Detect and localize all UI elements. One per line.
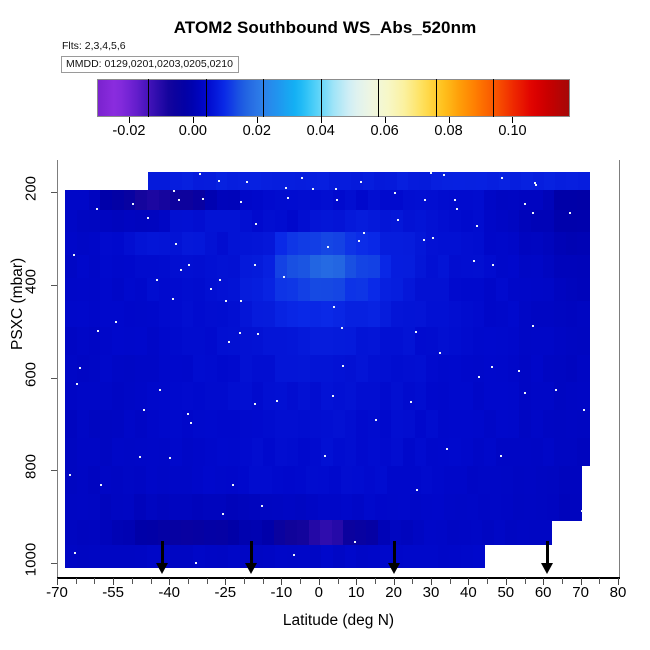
heatmap-cell <box>170 255 182 279</box>
x-axis-tick-label: -10 <box>271 584 293 601</box>
heatmap-cell <box>415 355 427 383</box>
heatmap-cell <box>157 494 169 521</box>
heatmap-cell <box>329 466 341 494</box>
heatmap-cell <box>170 301 182 327</box>
heatmap-cell <box>333 438 345 466</box>
heatmap-cell <box>217 382 229 410</box>
heatmap-cell <box>170 327 182 355</box>
heatmap-cell <box>473 545 485 569</box>
heatmap-cell <box>449 278 461 302</box>
sample-marker <box>293 554 295 556</box>
heatmap-cell <box>112 255 124 279</box>
heatmap-cell <box>147 232 159 256</box>
heatmap-cell <box>554 410 566 438</box>
heatmap-cell <box>157 466 169 494</box>
sample-marker <box>478 376 480 378</box>
heatmap-cell <box>124 410 136 438</box>
heatmap-cell <box>508 210 520 233</box>
heatmap-cell <box>513 466 525 494</box>
heatmap-cell <box>65 466 77 494</box>
heatmap-cell <box>240 382 252 410</box>
colorbar-divider <box>436 79 437 117</box>
sample-marker <box>255 223 257 225</box>
heatmap-cell <box>391 255 403 279</box>
heatmap-cell <box>391 278 403 302</box>
heatmap-cell <box>310 545 322 569</box>
heatmap-cell <box>217 438 229 466</box>
heatmap-cell <box>159 255 171 279</box>
heatmap-cell <box>77 410 89 438</box>
x-axis-tick <box>244 578 245 584</box>
x-axis-tick <box>76 578 77 584</box>
heatmap-cell <box>228 301 240 327</box>
sample-marker <box>219 279 221 281</box>
heatmap-cell <box>285 520 297 545</box>
sample-marker <box>143 409 145 411</box>
sample-marker <box>97 330 99 332</box>
heatmap-cell <box>329 494 341 521</box>
mmdd-annotation: MMDD: 0129,0201,0203,0205,0210 <box>61 56 239 73</box>
heatmap-cell <box>310 255 322 279</box>
heatmap-cell <box>182 545 194 569</box>
flights-annotation: Flts: 2,3,4,5,6 <box>62 40 126 52</box>
heatmap-cell <box>368 210 380 233</box>
heatmap-cell <box>368 255 380 279</box>
heatmap-cell <box>461 355 473 383</box>
x-axis-tick-label: 10 <box>348 584 365 601</box>
heatmap-cell <box>275 355 287 383</box>
heatmap-cell <box>536 466 548 494</box>
heatmap-cell <box>519 327 531 355</box>
heatmap-cell <box>321 355 333 383</box>
heatmap-cell <box>484 278 496 302</box>
heatmap-cell <box>89 545 101 569</box>
heatmap-cell <box>426 232 438 256</box>
heatmap-cell <box>487 172 499 191</box>
heatmap-cell <box>77 190 89 210</box>
heatmap-cell <box>252 438 264 466</box>
heatmap-cell <box>287 255 299 279</box>
heatmap-cell <box>508 355 520 383</box>
sample-marker <box>173 190 175 192</box>
sample-marker <box>188 264 190 266</box>
heatmap-cell <box>543 410 555 438</box>
heatmap-cell <box>478 466 490 494</box>
heatmap-cell <box>473 355 485 383</box>
heatmap-cell <box>415 278 427 302</box>
heatmap-cell <box>275 301 287 327</box>
heatmap-cell <box>159 172 171 191</box>
heatmap-cell <box>482 520 494 545</box>
heatmap-cell <box>391 355 403 383</box>
x-axis-tick <box>263 578 264 584</box>
sample-marker <box>342 365 344 367</box>
heatmap-cell <box>554 278 566 302</box>
heatmap-cell <box>508 438 520 466</box>
heatmap-cell <box>449 355 461 383</box>
y-axis-tick <box>51 285 57 286</box>
heatmap-cell <box>147 438 159 466</box>
heatmap-cell <box>490 466 502 494</box>
heatmap-cell <box>272 494 284 521</box>
heatmap-cell <box>536 494 548 521</box>
heatmap-cell <box>205 232 217 256</box>
heatmap-cell <box>356 545 368 569</box>
heatmap-cell <box>444 494 456 521</box>
heatmap-cell <box>275 410 287 438</box>
heatmap-cell <box>413 520 425 545</box>
heatmap-cell <box>77 255 89 279</box>
sample-marker <box>327 246 329 248</box>
heatmap-cell <box>473 438 485 466</box>
x-axis-tick-label: 60 <box>535 584 552 601</box>
heatmap-cell <box>112 520 124 545</box>
heatmap-cell <box>380 327 392 355</box>
heatmap-cell <box>345 438 357 466</box>
arrow-shaft <box>546 541 549 565</box>
heatmap-cell <box>228 210 240 233</box>
heatmap-cell <box>287 278 299 302</box>
heatmap-cell <box>356 355 368 383</box>
heatmap-cell <box>321 232 333 256</box>
heatmap-cell <box>508 190 520 210</box>
heatmap-cell <box>112 210 124 233</box>
heatmap-cell <box>252 210 264 233</box>
heatmap-cell <box>508 232 520 256</box>
heatmap-cell <box>204 172 216 191</box>
heatmap-cell <box>543 210 555 233</box>
heatmap-cell <box>112 410 124 438</box>
heatmap-cell <box>426 190 438 210</box>
heatmap-cell <box>471 520 483 545</box>
heatmap-cell <box>124 438 136 466</box>
heatmap-cell <box>444 466 456 494</box>
heatmap-cell <box>340 172 352 191</box>
heatmap-cell <box>484 355 496 383</box>
heatmap-cell <box>238 494 250 521</box>
sample-marker <box>430 172 432 174</box>
heatmap-cell <box>519 210 531 233</box>
heatmap-cell <box>438 255 450 279</box>
heatmap-cell <box>65 382 77 410</box>
heatmap-cell <box>89 232 101 256</box>
x-axis-tick <box>151 578 152 584</box>
heatmap-cell <box>555 172 567 191</box>
heatmap-cell <box>543 301 555 327</box>
heatmap-cell <box>193 190 205 210</box>
sample-marker <box>199 173 201 175</box>
heatmap-cell <box>123 466 135 494</box>
heatmap-cell <box>147 410 159 438</box>
heatmap-cell <box>554 355 566 383</box>
colorbar-tick-label: 0.08 <box>434 123 462 139</box>
heatmap-cell <box>473 278 485 302</box>
heatmap-cell <box>65 494 77 521</box>
heatmap-cell <box>531 327 543 355</box>
heatmap-cell <box>461 410 473 438</box>
heatmap-cell <box>333 327 345 355</box>
heatmap-cell <box>426 301 438 327</box>
heatmap-cell <box>375 466 387 494</box>
heatmap-cell <box>391 438 403 466</box>
heatmap-cell <box>169 494 181 521</box>
heatmap-cell <box>461 190 473 210</box>
heatmap-cell <box>147 255 159 279</box>
sample-marker <box>394 192 396 194</box>
heatmap-cell <box>519 255 531 279</box>
x-axis-tick <box>375 578 376 584</box>
heatmap-cell <box>403 210 415 233</box>
heatmap-cell <box>309 520 321 545</box>
heatmap-cell <box>364 466 376 494</box>
heatmap-cell <box>228 545 240 569</box>
x-axis-tick <box>525 578 526 584</box>
heatmap-cell <box>577 255 589 279</box>
heatmap-cell <box>148 172 160 191</box>
x-axis-tick-label: 30 <box>423 584 440 601</box>
heatmap-cell <box>415 545 427 569</box>
heatmap-cell <box>298 190 310 210</box>
y-axis-label: PSXC (mbar) <box>9 258 27 350</box>
heatmap-cell <box>380 210 392 233</box>
heatmap-cell <box>228 438 240 466</box>
heatmap-cell <box>380 355 392 383</box>
heatmap-cell <box>554 301 566 327</box>
heatmap-cell <box>554 210 566 233</box>
profile-arrow-marker <box>388 541 400 575</box>
heatmap-cell <box>310 190 322 210</box>
heatmap-cell <box>240 255 252 279</box>
heatmap-cell <box>570 494 582 521</box>
sample-marker <box>336 199 338 201</box>
heatmap-cell <box>135 232 147 256</box>
heatmap-cell <box>438 545 450 569</box>
heatmap-cell <box>356 278 368 302</box>
heatmap-cell <box>146 466 158 494</box>
heatmap-cell <box>385 172 397 191</box>
sample-marker <box>254 264 256 266</box>
heatmap-cell <box>135 410 147 438</box>
sample-marker <box>222 513 224 515</box>
heatmap-cell <box>77 327 89 355</box>
x-axis-tick <box>207 578 208 584</box>
heatmap-cell <box>260 494 272 521</box>
heatmap-cell <box>577 190 589 210</box>
heatmap-cell <box>135 520 147 545</box>
heatmap-cell <box>65 355 77 383</box>
heatmap-cell <box>341 494 353 521</box>
heatmap-cell <box>159 301 171 327</box>
heatmap-cell <box>438 355 450 383</box>
sample-marker <box>69 474 71 476</box>
heatmap-cell <box>228 278 240 302</box>
heatmap-cell <box>295 172 307 191</box>
heatmap-cell <box>77 520 89 545</box>
heatmap-cell <box>240 301 252 327</box>
sample-marker <box>492 264 494 266</box>
heatmap-cell <box>147 327 159 355</box>
heatmap-cell <box>215 494 227 521</box>
heatmap-cell <box>447 520 459 545</box>
x-axis-tick <box>412 578 413 584</box>
heatmap-cell <box>182 172 194 191</box>
heatmap-cell <box>88 466 100 494</box>
heatmap-cell <box>263 438 275 466</box>
heatmap-cell <box>170 355 182 383</box>
sample-marker <box>312 188 314 190</box>
heatmap-cell <box>124 190 136 210</box>
heatmap-cell <box>577 382 589 410</box>
sample-marker <box>416 489 418 491</box>
heatmap-cell <box>368 301 380 327</box>
heatmap-cell <box>170 545 182 569</box>
heatmap-cell <box>100 327 112 355</box>
colorbar-gradient <box>97 79 570 117</box>
heatmap-cell <box>554 255 566 279</box>
y-axis-tick <box>51 378 57 379</box>
heatmap-cell <box>436 520 448 545</box>
sample-marker <box>354 541 356 543</box>
heatmap-cell <box>77 278 89 302</box>
heatmap-cell <box>380 255 392 279</box>
sample-marker <box>187 413 189 415</box>
heatmap-cell <box>559 466 571 494</box>
heatmap-cell <box>391 301 403 327</box>
heatmap-cell <box>306 494 318 521</box>
heatmap-cell <box>89 301 101 327</box>
heatmap-cell <box>519 382 531 410</box>
heatmap-cell <box>368 382 380 410</box>
heatmap-cell <box>408 172 420 191</box>
heatmap-cell <box>566 210 578 233</box>
heatmap-cell <box>287 410 299 438</box>
heatmap-cell <box>77 232 89 256</box>
heatmap-cell <box>455 466 467 494</box>
sample-marker <box>524 203 526 205</box>
heatmap-cell <box>193 327 205 355</box>
sample-marker <box>169 457 171 459</box>
heatmap-cell <box>449 232 461 256</box>
heatmap-cell <box>333 255 345 279</box>
heatmap-cell <box>403 190 415 210</box>
heatmap-cell <box>263 355 275 383</box>
heatmap-cell <box>318 466 330 494</box>
heatmap-cell <box>135 438 147 466</box>
heatmap-cell <box>310 210 322 233</box>
heatmap-cell <box>352 466 364 494</box>
heatmap-field <box>58 160 619 577</box>
heatmap-cell <box>543 355 555 383</box>
heatmap-cell <box>310 278 322 302</box>
sample-marker <box>501 177 503 179</box>
y-axis-tick <box>51 192 57 193</box>
heatmap-cell <box>182 255 194 279</box>
axis-spine-bottom <box>57 577 620 579</box>
heatmap-cell <box>298 210 310 233</box>
heatmap-cell <box>415 255 427 279</box>
heatmap-cell <box>182 232 194 256</box>
colorbar-gradient-fill <box>98 80 569 116</box>
heatmap-cell <box>100 410 112 438</box>
heatmap-cell <box>283 494 295 521</box>
heatmap-cell <box>524 494 536 521</box>
colorbar-divider <box>206 79 207 117</box>
heatmap-cell <box>205 410 217 438</box>
heatmap-cell <box>554 382 566 410</box>
heatmap-cell <box>473 301 485 327</box>
arrow-head <box>388 563 400 574</box>
heatmap-cell <box>374 172 386 191</box>
heatmap-cell <box>501 494 513 521</box>
heatmap-cell <box>368 545 380 569</box>
plot-area: 2004006008001000 -70-55-40-25-1001020304… <box>57 160 620 578</box>
heatmap-cell <box>182 382 194 410</box>
heatmap-cell <box>297 520 309 545</box>
heatmap-cell <box>283 466 295 494</box>
heatmap-cell <box>89 278 101 302</box>
heatmap-cell <box>65 255 77 279</box>
sample-marker <box>446 448 448 450</box>
heatmap-cell <box>366 520 378 545</box>
heatmap-cell <box>566 438 578 466</box>
sample-marker <box>454 199 456 201</box>
heatmap-cell <box>578 172 590 191</box>
heatmap-cell <box>453 172 465 191</box>
heatmap-cell <box>306 466 318 494</box>
heatmap-cell <box>100 466 112 494</box>
heatmap-cell <box>159 210 171 233</box>
heatmap-cell <box>274 520 286 545</box>
heatmap-cell <box>438 278 450 302</box>
heatmap-cell <box>112 232 124 256</box>
heatmap-cell <box>438 232 450 256</box>
heatmap-cell <box>262 520 274 545</box>
heatmap-cell <box>467 466 479 494</box>
heatmap-cell <box>204 520 216 545</box>
heatmap-cell <box>415 410 427 438</box>
heatmap-cell <box>159 438 171 466</box>
sample-marker <box>228 341 230 343</box>
sample-marker <box>432 237 434 239</box>
heatmap-cell <box>426 382 438 410</box>
x-axis-tick-label: 20 <box>385 584 402 601</box>
heatmap-cell <box>147 355 159 383</box>
heatmap-cell <box>147 301 159 327</box>
heatmap-cell <box>321 438 333 466</box>
heatmap-cell <box>577 210 589 233</box>
heatmap-cell <box>449 382 461 410</box>
heatmap-cell <box>321 410 333 438</box>
heatmap-cell <box>345 355 357 383</box>
heatmap-cell <box>240 327 252 355</box>
sample-marker <box>132 203 134 205</box>
arrow-head <box>541 563 553 574</box>
heatmap-cell <box>240 210 252 233</box>
heatmap-cell <box>89 327 101 355</box>
heatmap-cell <box>193 278 205 302</box>
heatmap-cell <box>432 494 444 521</box>
heatmap-cell <box>501 466 513 494</box>
heatmap-cell <box>100 382 112 410</box>
heatmap-cell <box>355 520 367 545</box>
heatmap-cell <box>111 494 123 521</box>
sample-marker <box>218 180 220 182</box>
heatmap-cell <box>391 190 403 210</box>
x-axis-tick <box>94 578 95 584</box>
x-axis-tick-label: 40 <box>460 584 477 601</box>
heatmap-cell <box>519 301 531 327</box>
heatmap-cell <box>310 301 322 327</box>
